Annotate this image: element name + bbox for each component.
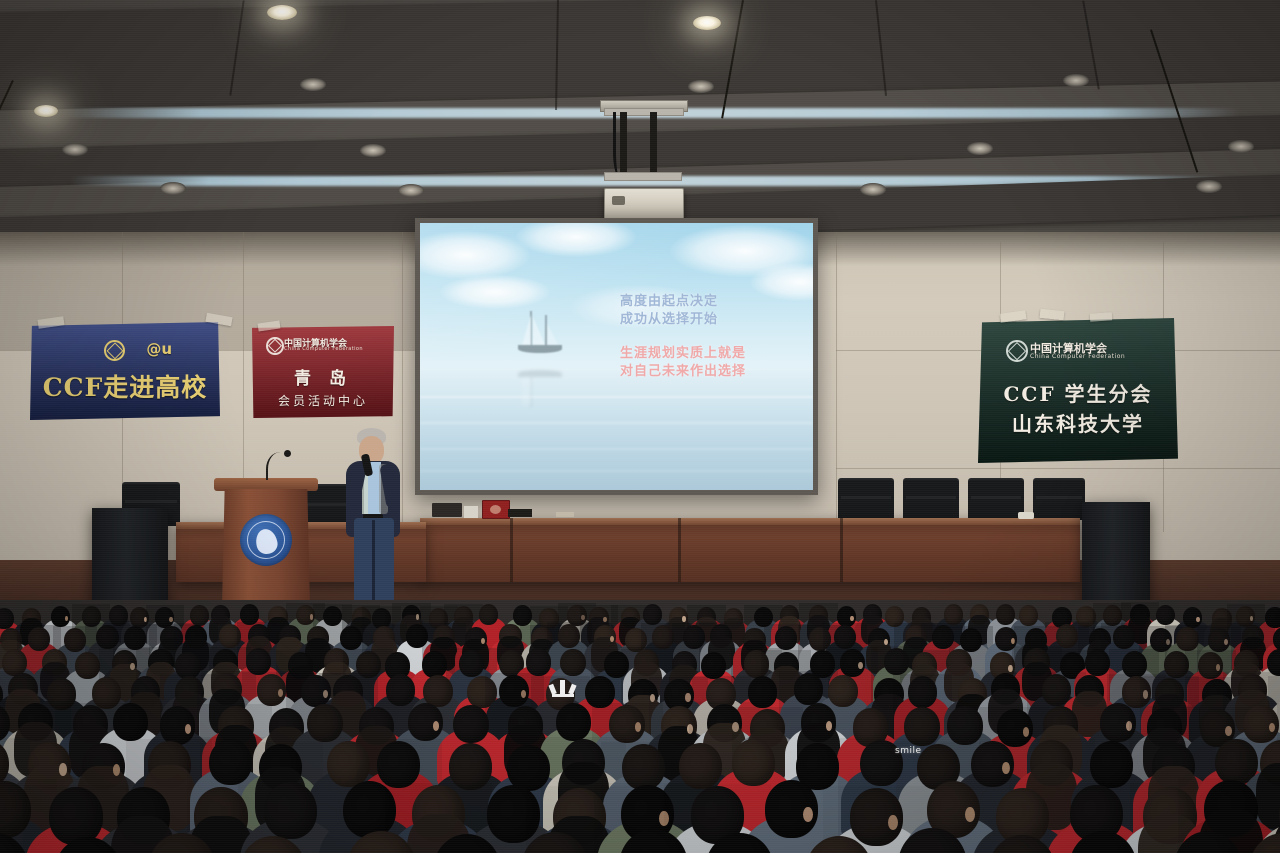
audience-member-head <box>1265 607 1280 628</box>
audience-member-head <box>701 652 726 679</box>
ceiling-downlight <box>360 144 386 157</box>
banner-subtitle: 会员活动中心 <box>252 392 394 409</box>
ccf-campus-banner: @u CCF走进高校 <box>30 322 220 420</box>
banner-main-text: CCF走进高校 <box>30 368 220 404</box>
microphone-case <box>508 509 532 517</box>
ceiling <box>0 0 1280 232</box>
audience-member-skin <box>888 815 898 830</box>
ccf-logo-icon <box>1006 340 1028 362</box>
desk-panel-seam <box>510 518 513 582</box>
audience-member-head <box>944 604 963 625</box>
audience-member-head <box>794 673 824 705</box>
cloud <box>516 223 636 257</box>
audience-member-skin <box>685 693 690 701</box>
audience-member-skin <box>659 811 669 826</box>
audience-member-skin <box>481 638 485 644</box>
audience-member-head <box>327 741 370 787</box>
audience-member-head <box>539 608 558 629</box>
audience-member-head <box>996 604 1015 625</box>
audience-member-head <box>386 674 416 706</box>
banner-line1: CCF 学生分会 <box>978 378 1178 407</box>
audience-member-head <box>1085 649 1110 676</box>
ceiling-downlight <box>398 184 424 197</box>
audience-member-skin <box>581 615 584 620</box>
projector-pole <box>650 112 657 174</box>
banner-line2: 山东科技大学 <box>978 408 1178 437</box>
audience-member-head <box>932 625 954 649</box>
audience-member-skin <box>1166 639 1170 645</box>
audience-member-head <box>526 648 551 675</box>
audience-member-skin <box>884 639 888 645</box>
audience-member-head <box>340 626 362 650</box>
projector-lens <box>612 196 625 205</box>
audience-member-head <box>560 649 585 676</box>
audience-member-head <box>406 624 428 648</box>
audience-member-head <box>459 650 484 677</box>
tape <box>1090 312 1113 322</box>
audience-member-skin <box>603 617 606 622</box>
banner-org-en: China Computer Federation <box>284 346 388 352</box>
banner-logo-suffix: @u <box>48 340 172 358</box>
books-stack <box>432 503 462 517</box>
audience-member-head <box>834 625 856 649</box>
ceiling-downlight <box>160 182 186 195</box>
right-loudspeaker <box>1082 502 1150 608</box>
audience-member-skin <box>169 617 172 622</box>
audience-member-skin <box>323 690 328 698</box>
audience-member-head <box>1019 605 1038 626</box>
audience-member-head <box>744 650 769 677</box>
audience-member-head <box>75 652 100 679</box>
audience-member-head <box>323 606 342 627</box>
audience-member-skin <box>310 614 313 619</box>
sailing-ship-icon <box>514 311 570 359</box>
audience-member-head <box>28 627 50 651</box>
audience-member-head <box>585 676 615 708</box>
ccf-logo-icon <box>266 337 284 355</box>
presenter <box>338 428 410 610</box>
audience-member-head <box>423 675 453 707</box>
audience-member-head <box>96 625 118 649</box>
audience-member-skin <box>650 694 655 702</box>
wall-seam <box>836 468 1280 469</box>
audience-member-head <box>643 604 662 625</box>
audience-member-head <box>307 704 343 742</box>
audience-member-head <box>92 677 122 709</box>
ceiling-downlight <box>1196 180 1222 193</box>
audience-member-head <box>377 741 420 787</box>
audience-member-head <box>828 675 858 707</box>
audience-member-skin <box>682 616 685 621</box>
ceiling-downlight <box>1228 140 1254 153</box>
audience-member-head <box>449 743 492 789</box>
ceiling-downlight <box>688 80 714 93</box>
audience-member-skin <box>1008 665 1013 672</box>
lecture-hall-photo: 高度由起点决定 成功从选择开始 生涯规划实质上就是 对自己未来作出选择 @u C… <box>0 0 1280 853</box>
slide-heading-text: 高度由起点决定 成功从选择开始 <box>620 293 718 328</box>
cloud <box>440 275 550 309</box>
audience-member-skin <box>416 614 419 619</box>
audience-member-skin <box>1143 690 1148 698</box>
ceiling-downlight <box>267 5 297 20</box>
audience-member-head <box>82 606 101 627</box>
audience-member-head <box>219 624 241 648</box>
audience-member-head <box>513 605 532 626</box>
cloud <box>420 231 530 279</box>
ceiling-downlight <box>860 183 886 196</box>
audience-area: smile <box>0 600 1280 853</box>
desk-panel-seam <box>840 518 843 582</box>
audience-member-head <box>1176 627 1198 651</box>
audience-member-head <box>1090 741 1133 787</box>
audience-member-head <box>209 739 252 785</box>
audience-member-head <box>49 787 102 845</box>
audience-member-head <box>1267 649 1280 676</box>
audience-member-skin <box>130 663 135 670</box>
ceiling-downlight <box>62 143 88 156</box>
audience-member-head <box>683 625 705 649</box>
audience-member-head <box>622 744 665 790</box>
desk-surface <box>420 518 1080 525</box>
ccf-student-chapter-banner: 中国计算机学会 China Computer Federation CCF 学生… <box>978 318 1178 463</box>
audience-member-head <box>1103 605 1122 626</box>
audience-member-head <box>1164 651 1189 678</box>
audience-member-head <box>904 707 940 745</box>
audience-member-head <box>652 625 674 649</box>
audience-member-head <box>2 649 27 676</box>
smile-print-top: smile <box>895 746 922 756</box>
slide-body-text: 生涯规划实质上就是 对自己未来作出选择 <box>620 345 746 380</box>
audience-member-skin <box>610 636 614 642</box>
audience-member-head <box>908 676 938 708</box>
audience-member-head <box>343 781 396 839</box>
audience-member-head <box>264 782 317 840</box>
audience-member-skin <box>1225 726 1231 736</box>
ceiling-downlight <box>967 142 993 155</box>
desk-object <box>556 512 574 517</box>
paper-cup <box>464 506 478 518</box>
audience-member-skin <box>965 807 975 822</box>
audience-member-head <box>246 648 271 675</box>
audience-member-skin <box>1023 727 1029 737</box>
audience-member-head <box>754 607 773 628</box>
audience-member-skin <box>850 616 853 621</box>
adidas-logo-hoodie <box>552 678 574 694</box>
projector-mount-bar <box>604 172 682 181</box>
ship-reflection <box>514 363 570 407</box>
audience-member-head <box>732 739 775 785</box>
audience-member-head <box>356 651 381 678</box>
ceiling-downlight <box>1063 74 1089 87</box>
banner-org-en: China Computer Federation <box>1030 353 1172 360</box>
audience-member-head <box>0 608 14 629</box>
red-box <box>482 500 510 519</box>
audience-member-head <box>240 604 259 625</box>
audience-member-head <box>64 628 86 652</box>
stage-chair <box>838 478 894 520</box>
audience-member-head <box>775 626 797 650</box>
audience-member-skin <box>1002 762 1010 774</box>
audience-member-skin <box>803 807 813 822</box>
audience-member-head <box>487 785 540 843</box>
ccf-qingdao-banner: 中国计算机学会 China Computer Federation 青 岛 会员… <box>252 326 394 418</box>
wall-seam <box>836 232 837 532</box>
audience-member-head <box>1122 651 1147 678</box>
audience-member-head <box>885 606 904 627</box>
audience-member-long-hair <box>1256 763 1280 830</box>
ceiling-downlight <box>34 105 58 117</box>
projector-body <box>604 188 684 222</box>
desk-object <box>1018 512 1034 519</box>
audience-member-head <box>1056 624 1078 648</box>
stage-chair <box>968 478 1024 520</box>
audience-member-head <box>47 678 77 710</box>
audience-member-skin <box>59 763 67 775</box>
audience-member-head <box>453 705 489 743</box>
audience-member-head <box>748 676 778 708</box>
audience-member-head <box>556 703 592 741</box>
audience-member-skin <box>1011 638 1015 644</box>
audience-member-head <box>1076 606 1095 627</box>
presenter-jeans-seam <box>372 520 375 608</box>
audience-member-skin <box>732 722 738 732</box>
stage-chair <box>903 478 959 520</box>
microphone-head-icon <box>284 450 291 457</box>
audience-member-head <box>1113 625 1135 649</box>
stage-desk <box>420 518 1080 582</box>
audience-member-head <box>947 706 983 744</box>
audience-member-head <box>679 743 722 789</box>
projection-screen: 高度由起点决定 成功从选择开始 生涯规划实质上就是 对自己未来作出选择 <box>415 218 818 495</box>
audience-member-head <box>884 648 909 675</box>
banner-city: 青 岛 <box>252 364 394 389</box>
audience-member-head <box>124 626 146 650</box>
audience-member-skin <box>521 690 526 698</box>
ceiling-downlight <box>300 78 326 91</box>
audience-member-head <box>109 605 128 626</box>
audience-member-head <box>113 703 149 741</box>
stage-chair <box>1033 478 1085 520</box>
projector-cable <box>613 112 630 178</box>
projected-slide: 高度由起点决定 成功从选择开始 生涯规划实质上就是 对自己未来作出选择 <box>420 223 813 490</box>
desk-panel-seam <box>678 518 681 582</box>
university-emblem <box>240 514 292 566</box>
sea <box>420 370 813 490</box>
audience-member-skin <box>858 662 863 669</box>
ceiling-downlight <box>693 16 721 30</box>
audience-member-head <box>960 628 982 652</box>
